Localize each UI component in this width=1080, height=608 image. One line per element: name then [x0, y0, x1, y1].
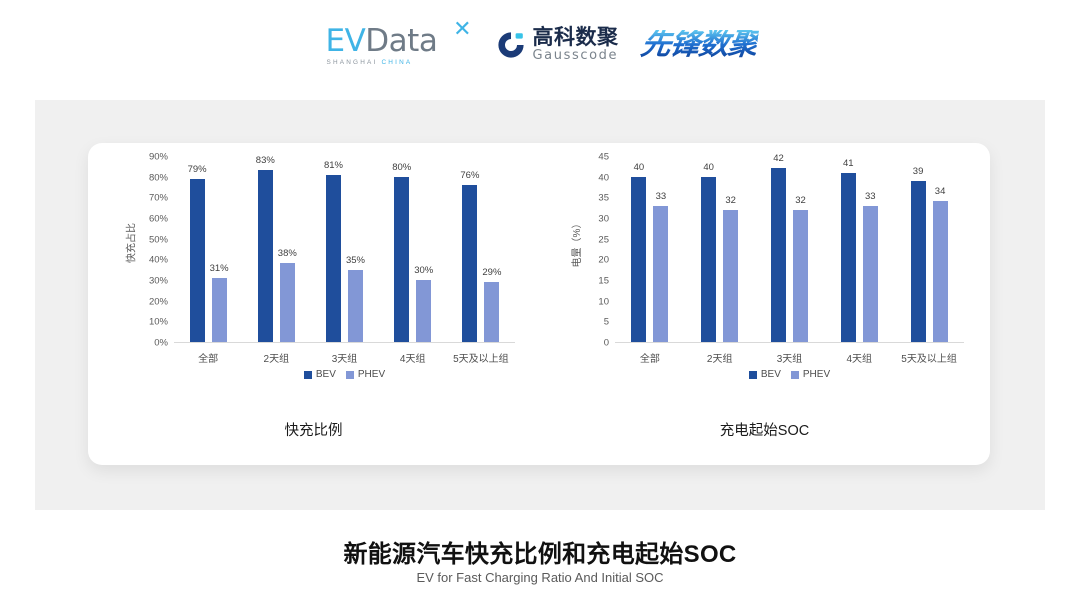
page-title: 新能源汽车快充比例和充电起始SOC: [0, 534, 1080, 569]
bar-value-label: 29%: [482, 267, 501, 278]
y-tick-label: 0: [604, 338, 609, 349]
evdata-data-text: Data: [365, 23, 437, 59]
y-tick-label: 35: [598, 193, 609, 204]
y-tick-label: 40%: [149, 255, 168, 266]
bar-value-label: 41: [843, 158, 854, 169]
bar-group: 4232: [755, 157, 825, 342]
evdata-ev-text: EV: [326, 23, 366, 59]
bar-group: 81%35%: [310, 157, 378, 342]
bar-bev[interactable]: 42: [771, 168, 786, 342]
bar-group: 79%31%: [174, 157, 242, 342]
x-tick-label: 全部: [615, 345, 685, 365]
bar-pair: 3934: [894, 157, 964, 342]
y-tick-label: 30: [598, 214, 609, 225]
bar-value-label: 83%: [256, 155, 275, 166]
evdata-tagline-city: SHANGHAI: [327, 59, 382, 66]
legend-item-bev[interactable]: BEV: [749, 369, 781, 380]
bar-pair: 79%31%: [174, 157, 242, 342]
bar-bev[interactable]: 80%: [394, 177, 409, 342]
bar-value-label: 38%: [278, 248, 297, 259]
bar-value-label: 32: [725, 195, 736, 206]
bar-pair: 4232: [755, 157, 825, 342]
x-tick-label: 4天组: [824, 345, 894, 365]
xianfeng-logo: 先锋数聚: [641, 22, 757, 68]
legend-swatch-icon: [346, 371, 354, 379]
charts-card: 快充占比0%10%20%30%40%50%60%70%80%90%79%31%8…: [88, 143, 990, 465]
plot-wrap-fast-charging-ratio: 快充占比0%10%20%30%40%50%60%70%80%90%79%31%8…: [88, 157, 539, 385]
legend-item-phev[interactable]: PHEV: [346, 369, 385, 380]
y-tick-label: 10%: [149, 317, 168, 328]
bar-bev[interactable]: 79%: [190, 179, 205, 342]
plot-wrap-initial-soc: 电量（%）05101520253035404540334032423241333…: [539, 157, 990, 385]
bar-value-label: 33: [865, 191, 876, 202]
bar-groups: 40334032423241333934: [615, 157, 964, 342]
bar-phev[interactable]: 33: [653, 206, 668, 342]
evdata-wordmark: EVData: [326, 26, 438, 57]
bar-phev[interactable]: 33: [863, 206, 878, 342]
bar-value-label: 30%: [414, 265, 433, 276]
y-tick-label: 50%: [149, 234, 168, 245]
chart-caption-initial-soc: 充电起始SOC: [539, 419, 990, 440]
x-tick-label: 全部: [174, 345, 242, 365]
legend-label: PHEV: [358, 369, 385, 380]
gausscode-name-en: Gausscode: [533, 49, 619, 63]
bar-pair: 4032: [685, 157, 755, 342]
plot-area-initial-soc: 40334032423241333934: [615, 157, 964, 343]
bar-phev[interactable]: 32: [723, 210, 738, 342]
bar-pair: 83%38%: [242, 157, 310, 342]
y-tick-label: 80%: [149, 172, 168, 183]
y-tick-label: 30%: [149, 276, 168, 287]
x-tick-label: 5天及以上组: [447, 345, 515, 365]
chart-fast-charging-ratio: 快充占比0%10%20%30%40%50%60%70%80%90%79%31%8…: [88, 143, 539, 465]
bar-value-label: 39: [913, 166, 924, 177]
legend-swatch-icon: [791, 371, 799, 379]
bar-pair: 81%35%: [310, 157, 378, 342]
y-axis-ticks-fast-charging-ratio: 0%10%20%30%40%50%60%70%80%90%: [134, 157, 168, 343]
bar-value-label: 76%: [460, 170, 479, 181]
bar-value-label: 35%: [346, 255, 365, 266]
x-axis-labels-initial-soc: 全部2天组3天组4天组5天及以上组: [615, 345, 964, 365]
legend-label: BEV: [761, 369, 781, 380]
y-tick-label: 45: [598, 152, 609, 163]
evdata-logo: EVData ✕ SHANGHAI CHINA: [324, 22, 474, 68]
bar-value-label: 81%: [324, 160, 343, 171]
gausscode-mark-icon: [496, 30, 526, 60]
y-axis-ticks-initial-soc: 051015202530354045: [575, 157, 609, 343]
bar-bev[interactable]: 41: [841, 173, 856, 342]
bar-pair: 76%29%: [447, 157, 515, 342]
y-tick-label: 70%: [149, 193, 168, 204]
plot-area-fast-charging-ratio: 79%31%83%38%81%35%80%30%76%29%: [174, 157, 515, 343]
x-tick-label: 3天组: [310, 345, 378, 365]
y-tick-label: 15: [598, 276, 609, 287]
chart-initial-soc: 电量（%）05101520253035404540334032423241333…: [539, 143, 990, 465]
bar-bev[interactable]: 40: [631, 177, 646, 342]
bar-value-label: 31%: [210, 263, 229, 274]
y-tick-label: 5: [604, 317, 609, 328]
legend-item-phev[interactable]: PHEV: [791, 369, 830, 380]
slide-root: EVData ✕ SHANGHAI CHINA 高科数聚 Gausscode 先…: [0, 0, 1080, 608]
legend-swatch-icon: [749, 371, 757, 379]
charts-row: 快充占比0%10%20%30%40%50%60%70%80%90%79%31%8…: [88, 143, 990, 465]
x-tick-label: 2天组: [242, 345, 310, 365]
gausscode-logo: 高科数聚 Gausscode: [496, 22, 619, 68]
legend-label: BEV: [316, 369, 336, 380]
bar-phev[interactable]: 35%: [348, 270, 363, 342]
bar-phev[interactable]: 30%: [416, 280, 431, 342]
bar-bev[interactable]: 39: [911, 181, 926, 342]
legend-swatch-icon: [304, 371, 312, 379]
bar-group: 76%29%: [447, 157, 515, 342]
gausscode-name-cn: 高科数聚: [533, 27, 619, 48]
bar-value-label: 33: [656, 191, 667, 202]
bar-bev[interactable]: 83%: [258, 170, 273, 342]
evdata-tagline: SHANGHAI CHINA: [327, 59, 413, 66]
bar-value-label: 32: [795, 195, 806, 206]
x-axis-labels-fast-charging-ratio: 全部2天组3天组4天组5天及以上组: [174, 345, 515, 365]
bar-group: 83%38%: [242, 157, 310, 342]
bar-phev[interactable]: 32: [793, 210, 808, 342]
bar-bev[interactable]: 40: [701, 177, 716, 342]
xianfeng-name-cn: 先锋数聚: [638, 30, 758, 60]
chart-caption-fast-charging-ratio: 快充比例: [88, 419, 539, 440]
bar-phev[interactable]: 29%: [484, 282, 499, 342]
y-tick-label: 20%: [149, 296, 168, 307]
y-tick-label: 20: [598, 255, 609, 266]
bar-groups: 79%31%83%38%81%35%80%30%76%29%: [174, 157, 515, 342]
x-tick-label: 5天及以上组: [894, 345, 964, 365]
gausscode-text-block: 高科数聚 Gausscode: [533, 27, 619, 62]
y-tick-label: 10: [598, 296, 609, 307]
x-tick-label: 2天组: [685, 345, 755, 365]
bar-pair: 80%30%: [379, 157, 447, 342]
bar-value-label: 80%: [392, 162, 411, 173]
y-tick-label: 0%: [154, 338, 168, 349]
bar-group: 3934: [894, 157, 964, 342]
y-tick-label: 40: [598, 172, 609, 183]
bar-value-label: 40: [634, 162, 645, 173]
x-tick-label: 3天组: [755, 345, 825, 365]
bar-pair: 4133: [824, 157, 894, 342]
bar-group: 4032: [685, 157, 755, 342]
bar-phev[interactable]: 34: [933, 201, 948, 342]
legend-fast-charging-ratio: BEVPHEV: [174, 369, 515, 380]
bar-bev[interactable]: 81%: [326, 175, 341, 342]
legend-item-bev[interactable]: BEV: [304, 369, 336, 380]
y-tick-label: 90%: [149, 152, 168, 163]
bar-value-label: 79%: [188, 164, 207, 175]
legend-label: PHEV: [803, 369, 830, 380]
x-tick-label: 4天组: [379, 345, 447, 365]
bar-phev[interactable]: 38%: [280, 263, 295, 342]
logo-bar: EVData ✕ SHANGHAI CHINA 高科数聚 Gausscode 先…: [0, 22, 1080, 68]
page-subtitle: EV for Fast Charging Ratio And Initial S…: [0, 570, 1080, 585]
bar-phev[interactable]: 31%: [212, 278, 227, 342]
bar-value-label: 42: [773, 153, 784, 164]
y-tick-label: 60%: [149, 214, 168, 225]
legend-initial-soc: BEVPHEV: [615, 369, 964, 380]
bar-group: 80%30%: [379, 157, 447, 342]
bar-pair: 4033: [615, 157, 685, 342]
y-tick-label: 25: [598, 234, 609, 245]
bar-value-label: 40: [703, 162, 714, 173]
bar-value-label: 34: [935, 186, 946, 197]
bar-bev[interactable]: 76%: [462, 185, 477, 342]
bar-group: 4033: [615, 157, 685, 342]
evdata-tagline-country: CHINA: [381, 59, 412, 66]
bar-group: 4133: [824, 157, 894, 342]
evdata-x-icon: ✕: [453, 19, 471, 41]
